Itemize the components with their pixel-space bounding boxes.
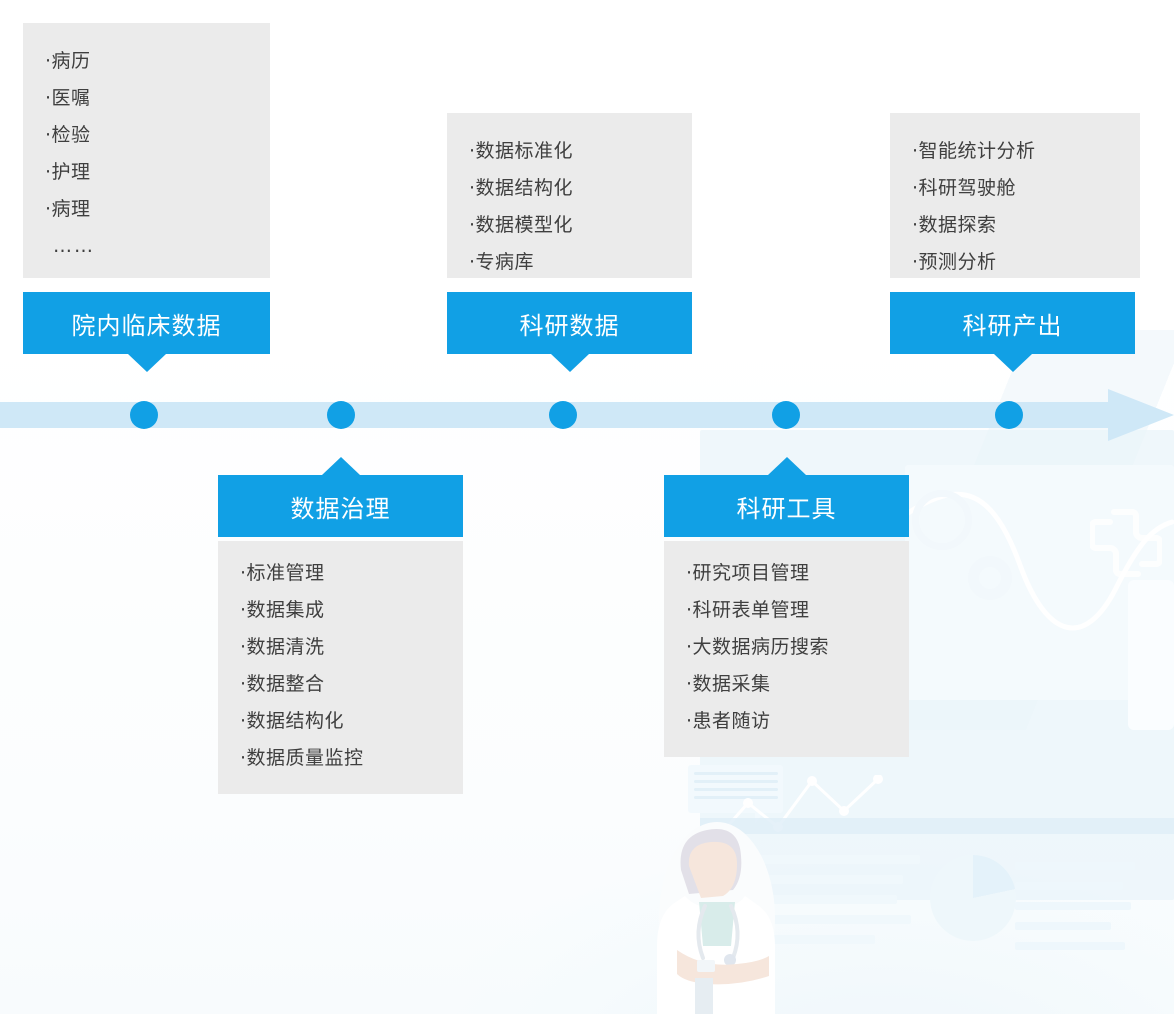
stage-header-clinical-data[interactable]: 院内临床数据: [23, 292, 270, 354]
line-chart-icon: [712, 775, 912, 845]
list-item: ·数据探索: [912, 207, 1118, 244]
list-item: ·医嘱: [45, 80, 248, 117]
stage-header-research-data[interactable]: 科研数据: [447, 292, 692, 354]
stage-research-tools-list: ·研究项目管理 ·科研表单管理 ·大数据病历搜索 ·数据采集 ·患者随访: [664, 541, 909, 757]
timeline-node-4[interactable]: [772, 401, 800, 429]
timeline-node-2[interactable]: [327, 401, 355, 429]
sine-curve-icon: [900, 470, 1174, 650]
list-item: ·数据质量监控: [240, 740, 441, 777]
stage-header-label: 数据治理: [291, 489, 391, 524]
stage-header-label: 科研数据: [520, 306, 620, 341]
timeline-node-1[interactable]: [130, 401, 158, 429]
list-item: ·检验: [45, 117, 248, 154]
list-item: ·病理: [45, 191, 248, 228]
medical-cross-icon: [1090, 508, 1162, 578]
list-item: ·大数据病历搜索: [686, 629, 887, 666]
stage-header-label: 院内临床数据: [72, 306, 222, 341]
background-bubble: [688, 765, 783, 813]
list-item: ·研究项目管理: [686, 555, 887, 592]
list-item: ·数据清洗: [240, 629, 441, 666]
list-item: ·护理: [45, 154, 248, 191]
background-bubble-lines: [694, 772, 778, 804]
pie-chart-icon: [930, 855, 1016, 941]
list-item: ·数据模型化: [469, 207, 670, 244]
stage-header-research-output[interactable]: 科研产出: [890, 292, 1135, 354]
background-text-lines: [725, 855, 925, 955]
timeline-arrow-head-icon: [1108, 389, 1174, 441]
stage-header-label: 科研工具: [737, 489, 837, 524]
timeline-node-3[interactable]: [549, 401, 577, 429]
list-item: ·专病库: [469, 244, 670, 281]
list-item: ·患者随访: [686, 703, 887, 740]
background-chart-card: [905, 465, 1174, 700]
background-bubble-tail: [755, 812, 764, 824]
list-item: ·病历: [45, 43, 248, 80]
background-circle: [912, 490, 972, 550]
background-circle-small: [968, 556, 1012, 600]
list-item: ·智能统计分析: [912, 133, 1118, 170]
list-item: ·数据结构化: [240, 703, 441, 740]
stage-header-label: 科研产出: [963, 306, 1063, 341]
stage-research-data-list: ·数据标准化 ·数据结构化 ·数据模型化 ·专病库: [447, 113, 692, 278]
list-item: ·标准管理: [240, 555, 441, 592]
background-text-lines-right: [1015, 862, 1140, 962]
stage-data-governance-list: ·标准管理 ·数据集成 ·数据清洗 ·数据整合 ·数据结构化 ·数据质量监控: [218, 541, 463, 794]
list-item: ·科研驾驶舱: [912, 170, 1118, 207]
list-item: ·数据整合: [240, 666, 441, 703]
timeline-node-5[interactable]: [995, 401, 1023, 429]
pointer-down-icon: [128, 354, 166, 372]
list-item: ·数据集成: [240, 592, 441, 629]
background-wash: [0, 330, 1174, 1014]
pointer-down-icon: [551, 354, 589, 372]
diagram-canvas: ·病历 ·医嘱 ·检验 ·护理 ·病理 …… 院内临床数据 ·数据标准化 ·数据…: [0, 0, 1174, 1014]
pointer-up-icon: [322, 457, 360, 475]
stage-header-research-tools[interactable]: 科研工具: [664, 475, 909, 537]
stage-header-data-governance[interactable]: 数据治理: [218, 475, 463, 537]
pointer-up-icon: [768, 457, 806, 475]
background-side-card: [1128, 580, 1174, 730]
pointer-down-icon: [994, 354, 1032, 372]
background-bottom-strip: [700, 818, 1174, 834]
list-item: ·科研表单管理: [686, 592, 887, 629]
list-item: ·预测分析: [912, 244, 1118, 281]
doctor-illustration: [655, 810, 785, 1014]
stage-research-output-list: ·智能统计分析 ·科研驾驶舱 ·数据探索 ·预测分析: [890, 113, 1140, 278]
list-item-ellipsis: ……: [45, 228, 248, 265]
list-item: ·数据采集: [686, 666, 887, 703]
list-item: ·数据结构化: [469, 170, 670, 207]
list-item: ·数据标准化: [469, 133, 670, 170]
stage-clinical-data-list: ·病历 ·医嘱 ·检验 ·护理 ·病理 ……: [23, 23, 270, 278]
